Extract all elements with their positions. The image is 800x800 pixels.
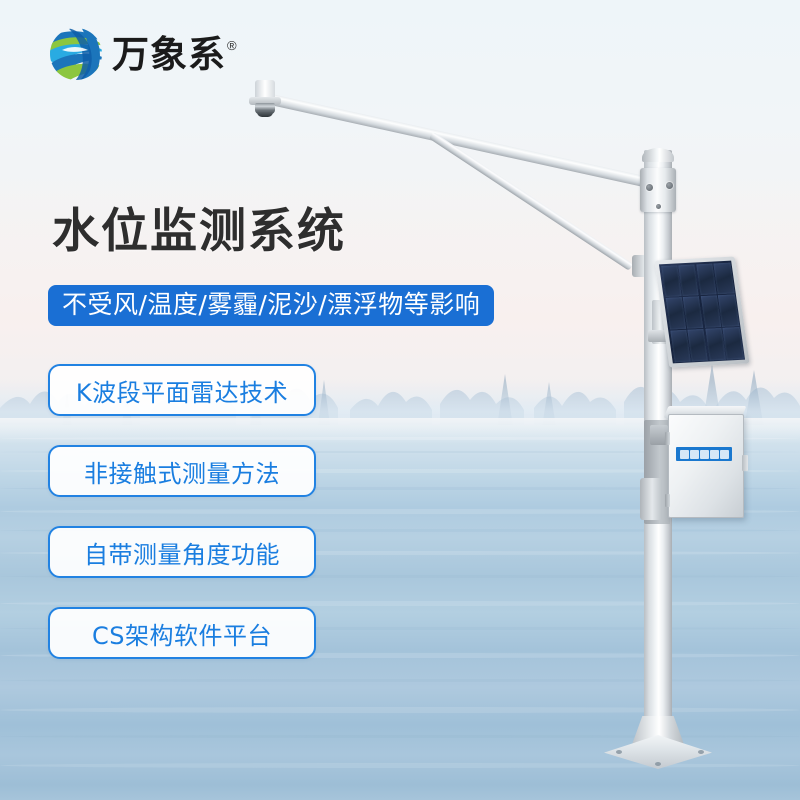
collar-bolt-icon	[666, 182, 673, 189]
enclosure-latch-icon	[742, 455, 748, 471]
flange-bolt-icon	[698, 750, 704, 754]
feature-item-angle[interactable]: 自带测量角度功能	[48, 526, 316, 578]
solar-panel	[654, 256, 749, 367]
enclosure-hinge-icon	[665, 432, 670, 445]
solar-cell-grid	[659, 261, 745, 364]
poster-canvas: 万象系 ® 水位监测系统 不受风/温度/雾霾/泥沙/漂浮物等影响 K波段平面雷达…	[0, 0, 800, 800]
enclosure-hinge-icon	[665, 494, 670, 507]
page-title: 水位监测系统	[52, 208, 346, 255]
feature-item-platform[interactable]: CS架构软件平台	[48, 607, 316, 659]
collar-bolt-icon	[656, 204, 661, 209]
collar-bolt-icon	[646, 184, 653, 191]
brand-wordmark: 万象系 ®	[112, 36, 237, 73]
flange-bolt-icon	[655, 762, 661, 766]
globe-swirl-logo-icon	[48, 26, 104, 82]
enclosure-vent-panel	[640, 478, 662, 520]
trademark-symbol: ®	[227, 38, 237, 53]
radar-sensor-lens-icon	[257, 112, 273, 117]
flange-bolt-icon	[616, 750, 622, 754]
feature-item-noncontact[interactable]: 非接触式测量方法	[48, 445, 316, 497]
feature-list: K波段平面雷达技术 非接触式测量方法 自带测量角度功能 CS架构软件平台	[48, 364, 316, 688]
feature-item-radar[interactable]: K波段平面雷达技术	[48, 364, 316, 416]
enclosure-label-sticker	[676, 447, 732, 461]
equipment-enclosure	[668, 414, 744, 518]
brand-name: 万象系	[112, 36, 226, 73]
horizontal-boom-arm	[261, 92, 646, 187]
mast-cap	[642, 148, 674, 162]
hero-subtitle-banner: 不受风/温度/雾霾/泥沙/漂浮物等影响	[48, 285, 494, 326]
brand-logo[interactable]: 万象系 ®	[48, 26, 237, 82]
